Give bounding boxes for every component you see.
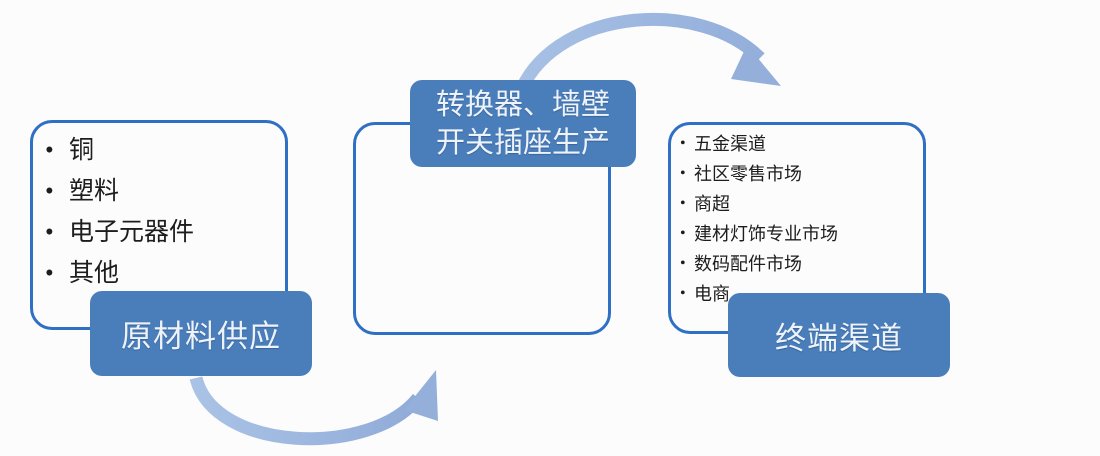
list-item: 电子元器件 xyxy=(45,212,194,253)
channels-label: 终端渠道 xyxy=(775,313,903,358)
arrow-raw-to-production-icon xyxy=(196,370,438,439)
list-item: 商超 xyxy=(680,189,838,219)
list-item: 塑料 xyxy=(45,171,194,212)
diagram-canvas: 铜 塑料 电子元器件 其他 原材料供应 转换器、墙壁 开关插座生产 五金渠道 社… xyxy=(0,0,1100,456)
raw-materials-list: 铜 塑料 电子元器件 其他 xyxy=(45,130,194,294)
list-item: 数码配件市场 xyxy=(680,249,838,279)
arrow-production-to-channels-icon xyxy=(522,19,781,88)
channels-list: 五金渠道 社区零售市场 商超 建材灯饰专业市场 数码配件市场 电商 xyxy=(680,129,838,309)
list-item: 建材灯饰专业市场 xyxy=(680,219,838,249)
list-item: 五金渠道 xyxy=(680,129,838,159)
list-item: 铜 xyxy=(45,130,194,171)
channels-label-box[interactable]: 终端渠道 xyxy=(728,293,950,377)
raw-materials-label-box[interactable]: 原材料供应 xyxy=(90,291,312,376)
raw-materials-label: 原材料供应 xyxy=(121,311,281,356)
list-item: 其他 xyxy=(45,253,194,294)
list-item: 社区零售市场 xyxy=(680,159,838,189)
production-label-box[interactable]: 转换器、墙壁 开关插座生产 xyxy=(410,80,636,167)
production-label-line-1: 转换器、墙壁 xyxy=(436,86,610,124)
production-label-line-2: 开关插座生产 xyxy=(436,124,610,162)
